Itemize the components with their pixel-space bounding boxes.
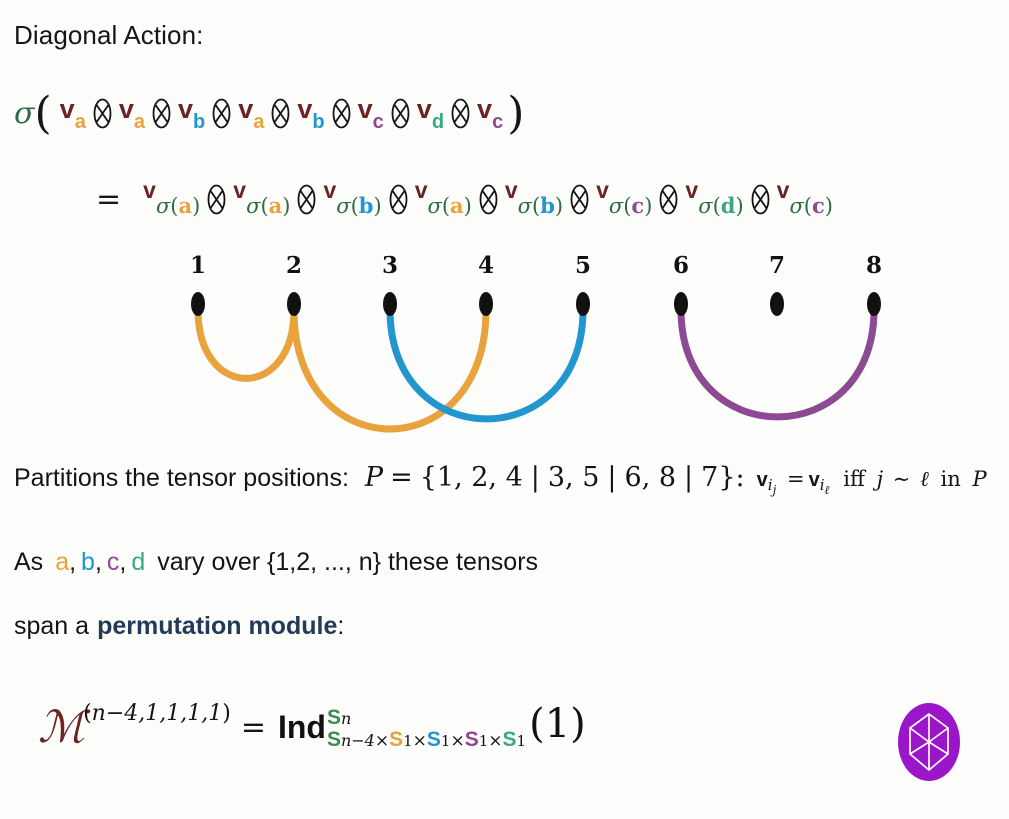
sub-letter-c: c [812,193,825,218]
sigma-symbol: σ [427,194,441,218]
vector-subscript-c: c [492,111,503,134]
tensor-factor: vσ(b) [505,186,563,213]
condition-sub-j: j [773,483,777,497]
condition-sim: ∼ [893,467,911,491]
partitions-colon: : [736,462,745,493]
vector-subscript-b: b [312,111,324,134]
node-8 [867,292,881,316]
times-symbol: × [450,731,464,751]
tensor-product-icon [297,184,316,215]
sub-letter-a: a [269,193,283,218]
node-label-1: 1 [190,252,206,279]
span-colon: : [337,612,344,641]
tensor-factor: vb [297,98,324,129]
vector-subscript-a: a [75,111,86,134]
span-prefix: span a [14,612,89,641]
vector-v: v [477,94,492,125]
partition-separator: | [684,462,693,493]
sub-paren-close: ) [373,194,381,218]
symmetric-group-factor: S1 [389,728,413,751]
as-word: As [14,548,43,577]
partition-block-0: 1, 2, 4 [437,462,523,493]
condition-sub-i-2: i [820,476,825,494]
factor-S: S [389,728,403,751]
formula-trailing: (1) [529,701,586,747]
slide-canvas: Diagonal Action: σ(vavavbvavbvcvdvc) =vσ… [0,0,1009,819]
node-label-7: 7 [769,252,785,279]
tensor-factor: vσ(c) [596,186,652,213]
vector-v: v [685,177,698,204]
condition-in: in [941,467,961,491]
tensor-expression-line2: =vσ(a)vσ(a)vσ(b)vσ(a)vσ(b)vσ(c)vσ(d)vσ(c… [96,182,833,217]
tensor-product-icon [271,98,290,129]
node-label-2: 2 [286,252,302,279]
sigma-symbol: σ [246,194,260,218]
partitions-prefix: Partitions the tensor positions: [14,464,349,493]
inline-letter-c: c [107,548,120,576]
partition-separator: | [607,462,616,493]
inline-letter-a: a [55,548,69,576]
polytope-logo [896,702,962,782]
sub-paren-open: ( [260,194,268,218]
tensor-product-icon [570,184,589,215]
sigma-symbol: σ [518,194,532,218]
sub-paren-close: ) [192,194,200,218]
tensor-factor: vσ(d) [685,186,743,213]
times-symbol: × [375,731,389,751]
tensor-factor: vσ(a) [233,186,290,213]
tensor-product-icon [479,184,498,215]
vector-subscript-b: b [193,111,205,134]
permutation-module-bold: permutation module [97,612,337,641]
tensor-factor: vc [358,98,384,129]
induction-top-group: Sn [327,707,526,728]
sigma-applied-subscript: σ(b) [336,193,381,218]
vector-v: v [297,94,312,125]
sub-letter-b: b [359,193,374,218]
top-index: n [341,709,351,728]
times-symbol: × [488,731,502,751]
vector-v: v [777,177,790,204]
span-line-1: As a,b,c,d vary over {1,2, ..., n} these… [14,548,538,577]
node-7 [770,292,784,316]
node-6 [674,292,688,316]
brace-open: { [420,462,437,493]
inline-comma: , [69,548,76,576]
sub-paren-close: ) [825,194,833,218]
line2-equals: = [96,182,121,217]
sub-paren-open: ( [442,194,450,218]
vector-v: v [143,177,156,204]
vector-subscript-a: a [134,111,145,134]
tensor-product-icon [93,98,112,129]
condition-expression: vij =viℓ iff j ∼ ℓ in P [757,467,987,492]
brace-close: } [718,462,735,493]
factor-index: 1 [479,732,489,750]
condition-sub-ell: ℓ [825,483,830,497]
vector-v: v [415,177,428,204]
page-title: Diagonal Action: [14,20,204,51]
partition-block-2: 6, 8 [625,462,677,493]
condition-var-ell: ℓ [920,467,929,491]
sup-partition: n−4,1,1,1,1 [92,701,223,726]
tensor-factor: vσ(c) [777,186,833,213]
inline-comma: , [95,548,102,576]
node-label-5: 5 [575,252,591,279]
top-S: S [327,706,341,729]
times-symbol: × [413,731,427,751]
induction-subsup: Sn Sn−4×S1×S1×S1×S1 [327,707,526,750]
sigma-applied-subscript: σ(a) [427,193,471,218]
vector-v: v [233,177,246,204]
tensor-factor: va [119,98,145,129]
tensor-product-icon [751,184,770,215]
inline-comma: , [119,548,126,576]
condition-v-2: v [809,469,820,491]
sub-letter-d: d [721,193,736,218]
colored-letters-run: a,b,c,d [55,548,145,577]
symmetric-group-factor: S1 [427,728,451,751]
vector-subscript-d: d [432,111,444,134]
inline-letter-b: b [81,548,95,576]
sub-paren-close: ) [282,194,290,218]
sub-letter-b: b [540,193,555,218]
tensor-product-icon [659,184,678,215]
sigma-applied-subscript: σ(c) [789,193,833,218]
tensor-factor: va [60,98,86,129]
sub-letter-a: a [450,193,464,218]
sigma-symbol: σ [789,194,803,218]
sub-paren-close: ) [555,194,563,218]
node-label-4: 4 [478,252,494,279]
vector-v: v [358,94,373,125]
condition-var-j: j [877,467,884,491]
vary-text: vary over {1,2, ..., n} these tensors [157,548,538,577]
tensor-factor: va [238,98,264,129]
sub-paren-close: ) [644,194,652,218]
tensor-factor: vσ(b) [323,186,381,213]
condition-P: P [972,467,986,491]
bottom-index: n−4 [341,731,375,750]
node-label-3: 3 [382,252,398,279]
sigma-symbol: σ [156,194,170,218]
condition-equals: = [787,467,805,491]
tensor-product-icon [451,98,470,129]
partitions-line: Partitions the tensor positions: P = { 1… [14,462,987,493]
sigma-applied-subscript: σ(d) [698,193,743,218]
node-5 [576,292,590,316]
symmetric-group-factor: S1 [503,728,527,751]
sub-paren-open: ( [532,194,540,218]
node-3 [383,292,397,316]
sub-paren-open: ( [713,194,721,218]
bottom-S: S [327,728,341,751]
vector-v: v [417,94,432,125]
vector-subscript-c: c [373,111,384,134]
factor-S: S [465,728,479,751]
induction-operator: Ind [278,709,326,746]
arc-6-8 [681,310,874,417]
tensor-product-icon [212,98,231,129]
tensor-factor: vb [178,98,205,129]
factor-S: S [503,728,517,751]
vector-v: v [238,94,253,125]
tensor-product-icon [207,184,226,215]
paren-close: ) [507,96,524,131]
symmetric-group-factor: S1 [465,728,489,751]
node-label-6: 6 [673,252,689,279]
permutation-module-formula: ℳ (n−4,1,1,1,1) = Ind Sn Sn−4×S1×S1×S1×S… [38,702,586,753]
vector-v: v [60,94,75,125]
sigma-applied-subscript: σ(c) [609,193,653,218]
paren-open: ( [34,96,51,131]
tensor-product-icon [152,98,171,129]
tensor-factor: vc [477,98,503,129]
M-superscript: (n−4,1,1,1,1) [83,701,231,726]
sigma-symbol: σ [14,96,34,131]
tensor-product-icon [332,98,351,129]
vector-v: v [505,177,518,204]
formula-equals: = [241,710,266,745]
sub-paren-open: ( [351,194,359,218]
sub-paren-close: ) [735,194,743,218]
sigma-symbol: σ [609,194,623,218]
sigma-applied-subscript: σ(b) [518,193,563,218]
sigma-applied-subscript: σ(a) [156,193,200,218]
arc-1-2 [198,310,294,378]
sub-paren-open: ( [804,194,812,218]
induction-bottom-group: Sn−4×S1×S1×S1×S1 [327,729,526,750]
tensor-product-icon [389,184,408,215]
factor-index: 1 [403,732,413,750]
condition-sub-i-1: i [768,476,773,494]
factor-S: S [427,728,441,751]
tensor-factor: vd [417,98,444,129]
condition-v-1: v [757,469,768,491]
vector-v: v [119,94,134,125]
tensor-product-icon [391,98,410,129]
factor-index: 1 [517,732,527,750]
partition-separator: | [531,462,540,493]
sigma-symbol: σ [698,194,712,218]
partitions-equals: = [390,462,413,493]
vector-v: v [178,94,193,125]
sup-open-paren: ( [83,701,92,726]
script-M-symbol: ℳ [38,702,83,753]
vector-subscript-a: a [253,111,264,134]
tensor-factor: vσ(a) [143,186,200,213]
node-label-8: 8 [866,252,882,279]
node-1 [191,292,205,316]
sigma-symbol: σ [336,194,350,218]
node-4 [479,292,493,316]
partition-block-3: 7 [701,462,718,493]
vector-v: v [323,177,336,204]
span-line-2: span a permutation module : [14,612,344,641]
tensor-expression-line1: σ(vavavbvavbvcvdvc) [14,96,524,131]
tensor-factor: vσ(a) [415,186,472,213]
partition-block-1: 3, 5 [548,462,600,493]
condition-iff: iff [843,467,865,491]
sub-paren-close: ) [464,194,472,218]
node-2 [287,292,301,316]
vector-v: v [596,177,609,204]
sub-letter-c: c [631,193,644,218]
sub-letter-a: a [178,193,192,218]
partition-symbol-P: P [365,462,383,493]
sup-close-paren: ) [222,701,231,726]
sigma-applied-subscript: σ(a) [246,193,290,218]
inline-letter-d: d [131,548,145,576]
